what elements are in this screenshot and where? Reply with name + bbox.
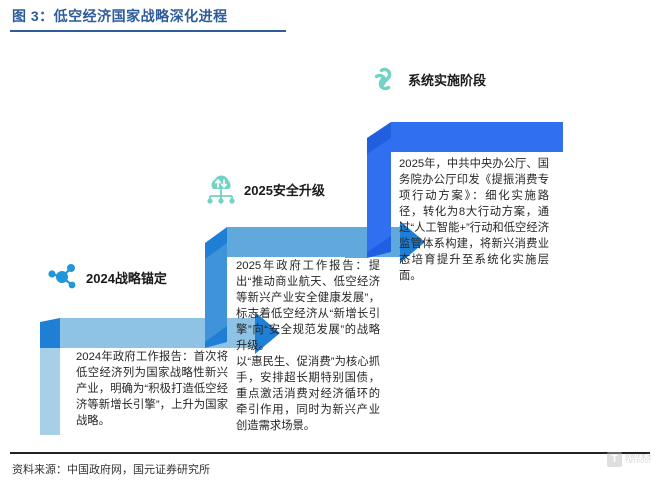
step-1-title: 2024战略锚定	[86, 268, 167, 287]
molecule-node-icon	[46, 260, 80, 294]
step-2-header: 2025安全升级	[204, 172, 325, 206]
step-1-body: 2024年政府工作报告：首次将低空经济列为国家战略性新兴产业，明确为“积极打造低…	[76, 349, 228, 429]
source-note: 资料来源：中国政府网，国元证券研究所	[12, 461, 210, 477]
watermark-text: 钛媒体集团 TMTPOST	[625, 455, 652, 465]
step-2-title: 2025安全升级	[244, 180, 325, 199]
watermark-logo-icon: T	[607, 452, 622, 467]
title-divider	[10, 30, 286, 32]
step-3-header: 系统实施阶段	[368, 62, 486, 96]
page-title: 图 3：低空经济国家战略深化进程	[12, 6, 228, 26]
step-3-title: 系统实施阶段	[408, 70, 486, 89]
watermark-en: TMTPOST	[625, 460, 652, 465]
cloud-transfer-icon	[204, 172, 238, 206]
watermark: T 钛媒体集团 TMTPOST	[607, 452, 652, 467]
chain-link-icon	[368, 62, 402, 96]
step-2-body: 2025年政府工作报告：提出“推动商业航天、低空经济等新兴产业安全健康发展”，标…	[236, 258, 380, 434]
step-1-header: 2024战略锚定	[46, 260, 167, 294]
step-3-body: 2025年，中共中央办公厅、国务院办公厅印发《提振消费专项行动方案》：细化实施路…	[399, 156, 549, 284]
figure-root: 图 3：低空经济国家战略深化进程 2024战略锚定	[0, 0, 660, 480]
footer-divider	[10, 452, 650, 454]
